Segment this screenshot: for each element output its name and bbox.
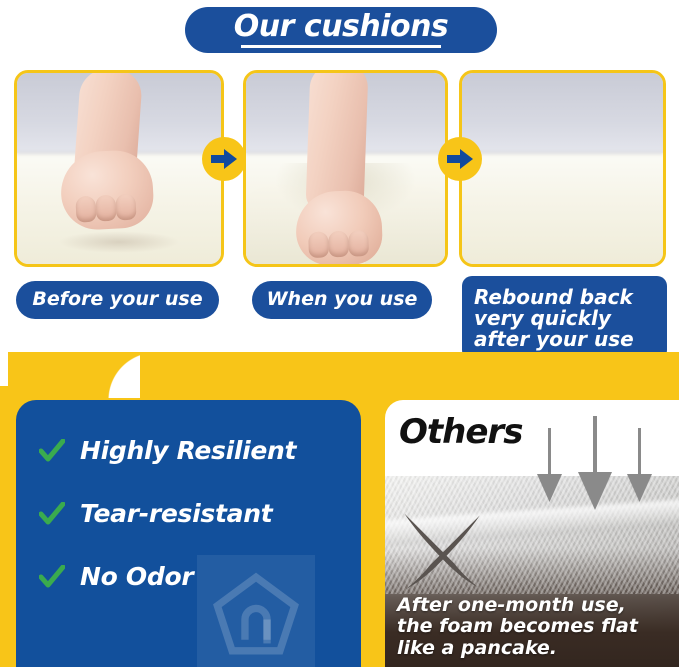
others-title: Others [399,412,522,452]
caption-after: Rebound back very quickly after your use [462,276,667,360]
photo-background-wall [462,73,663,157]
photo-during [246,73,445,264]
knuckle-shape [348,230,369,257]
check-icon [38,437,66,465]
features-list: Highly Resilient Tear-resistant No Odor [38,436,351,625]
yellow-left-strip [0,386,14,667]
infographic-root: Our cushions [0,0,679,667]
feature-label: Tear-resistant [80,499,272,528]
knuckle-shape [95,195,116,222]
caption-after-line-1: Rebound back [474,287,633,308]
caption-before: Before your use [16,281,219,319]
foam-edge-line [462,151,663,156]
contact-shadow [58,231,180,253]
feature-item: Tear-resistant [38,499,351,528]
check-icon [38,500,66,528]
right-arrow-icon [202,137,246,181]
knuckle-shape [308,231,329,258]
title-underline [241,45,441,48]
check-icon [38,563,66,591]
yellow-corner-curve [8,352,148,400]
knuckle-shape [328,231,349,258]
feature-item: No Odor [38,562,351,591]
page-title: Our cushions [234,12,449,42]
yellow-top-strip [140,352,679,398]
knuckle-shape [75,196,96,223]
caption-during: When you use [252,281,432,319]
demo-panel-before [14,70,224,267]
photo-after [462,73,663,264]
others-caption: After one-month use, the foam becomes fl… [397,595,671,659]
caption-after-line-3: after your use [474,329,634,350]
x-cross-icon [397,508,489,600]
features-panel: Highly Resilient Tear-resistant No Odor [16,400,361,667]
demo-panel-after [459,70,666,267]
page-title-banner: Our cushions [185,7,497,53]
feature-label: No Odor [80,562,193,591]
caption-after-line-2: very quickly [474,308,611,329]
demo-panel-during [243,70,448,267]
photo-foam-surface [462,153,663,264]
down-arrow-group [531,414,661,514]
others-caption-line-1: After one-month use, [397,595,671,616]
knuckle-shape [115,194,136,221]
others-panel: Others [385,400,679,667]
feature-item: Highly Resilient [38,436,351,465]
right-arrow-icon [438,137,482,181]
photo-before [17,73,221,264]
others-caption-line-2: the foam becomes flat [397,616,671,637]
feature-label: Highly Resilient [80,436,296,465]
others-caption-line-3: like a pancake. [397,638,671,659]
